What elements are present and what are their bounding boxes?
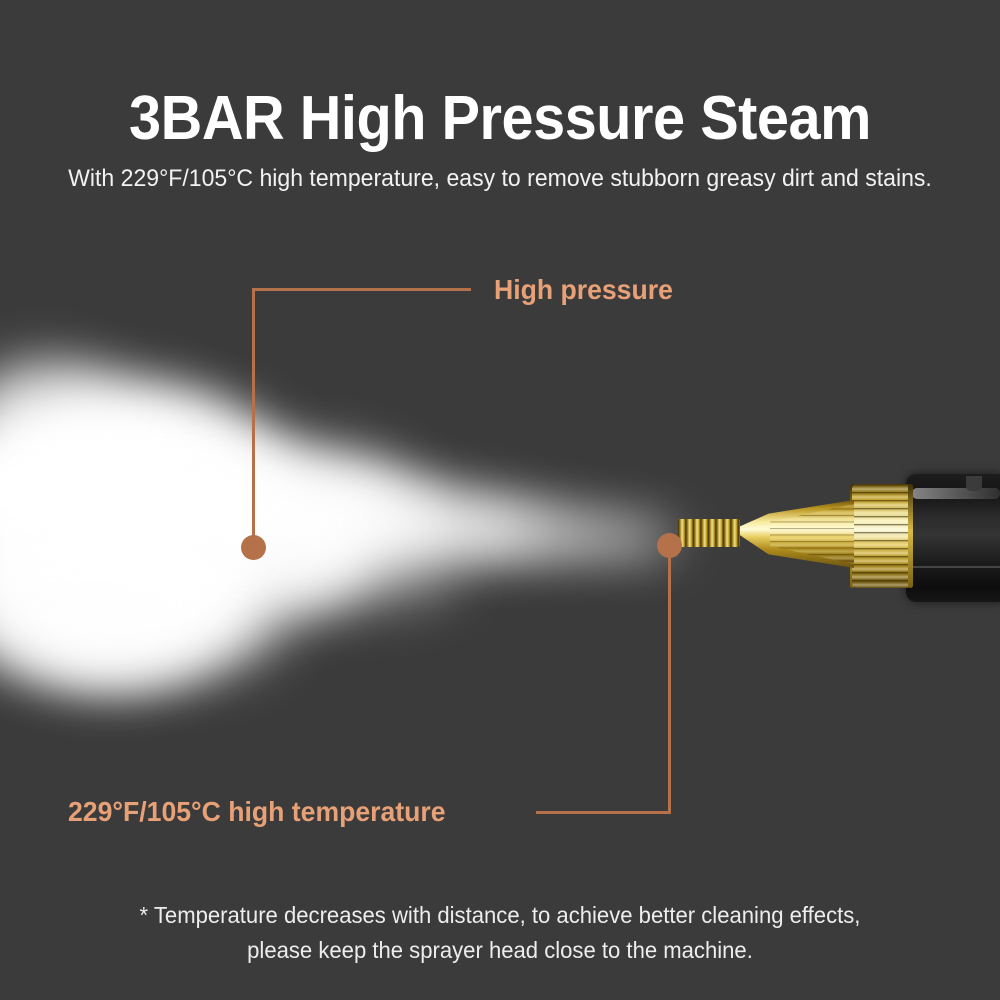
threaded-tip [678, 519, 740, 547]
footnote-line-2: please keep the sprayer head close to th… [20, 933, 980, 968]
footnote-line-1: * Temperature decreases with distance, t… [20, 898, 980, 933]
body-seam [910, 566, 1000, 568]
callout-dot-high-pressure [241, 535, 266, 560]
callout-line-temperature-vertical [668, 552, 671, 814]
footnote: * Temperature decreases with distance, t… [20, 898, 980, 968]
body-notch [966, 476, 982, 491]
callout-label-temperature: 229°F/105°C high temperature [68, 796, 446, 828]
callout-line-temperature-horizontal [536, 811, 671, 814]
steam-plume [0, 330, 740, 730]
brass-steam-nozzle [660, 462, 1000, 642]
collar-edge-right [908, 484, 913, 588]
page-title: 3BAR High Pressure Steam [35, 86, 965, 152]
callout-line-high-pressure-horizontal [253, 288, 471, 291]
knurled-collar [852, 484, 912, 588]
page-subtitle: With 229°F/105°C high temperature, easy … [20, 164, 980, 194]
callout-line-high-pressure-vertical [252, 288, 255, 542]
callout-label-high-pressure: High pressure [494, 274, 673, 306]
callout-dot-temperature [657, 533, 682, 558]
product-feature-banner: 3BAR High Pressure Steam With 229°F/105°… [0, 0, 1000, 1000]
body-highlight [912, 488, 1000, 499]
